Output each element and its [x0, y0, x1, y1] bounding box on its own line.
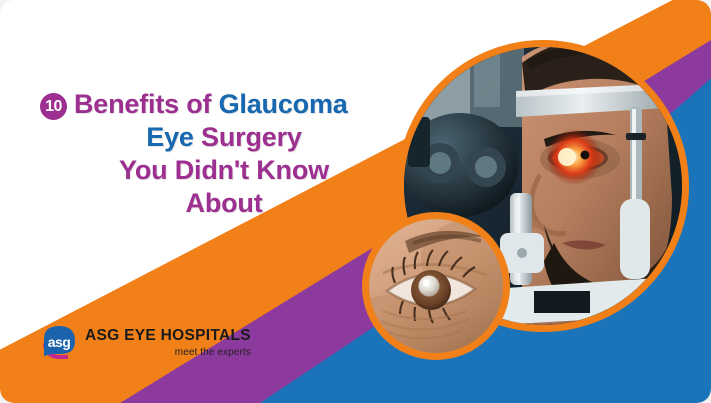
title-word-glaucoma: Glaucoma: [219, 89, 348, 119]
svg-text:asg: asg: [48, 334, 71, 350]
title-line-4: About: [34, 187, 414, 220]
asg-logo-icon: asg: [38, 323, 78, 363]
brand-logo: asg ASG EYE HOSPITALS meet the experts: [38, 323, 251, 363]
logo-text-block: ASG EYE HOSPITALS meet the experts: [85, 328, 251, 358]
logo-tagline: meet the experts: [85, 348, 251, 358]
title-line-1: 10Benefits of Glaucoma: [34, 88, 414, 121]
logo-name: ASG EYE HOSPITALS: [85, 328, 251, 344]
banner-card: 10Benefits of Glaucoma Eye Surgery You D…: [0, 0, 711, 403]
title-line-2: Eye Surgery: [34, 121, 414, 154]
title-word-surgery: Surgery: [201, 122, 302, 152]
title-word-benefits: Benefits of: [74, 89, 219, 119]
title-word-eye: Eye: [146, 122, 201, 152]
cataract-eye-illustration: [369, 219, 503, 353]
number-badge: 10: [40, 93, 67, 120]
title-line-3: You Didn't Know: [34, 154, 414, 187]
inset-photo-circle: [362, 212, 510, 360]
page-title: 10Benefits of Glaucoma Eye Surgery You D…: [34, 88, 414, 220]
